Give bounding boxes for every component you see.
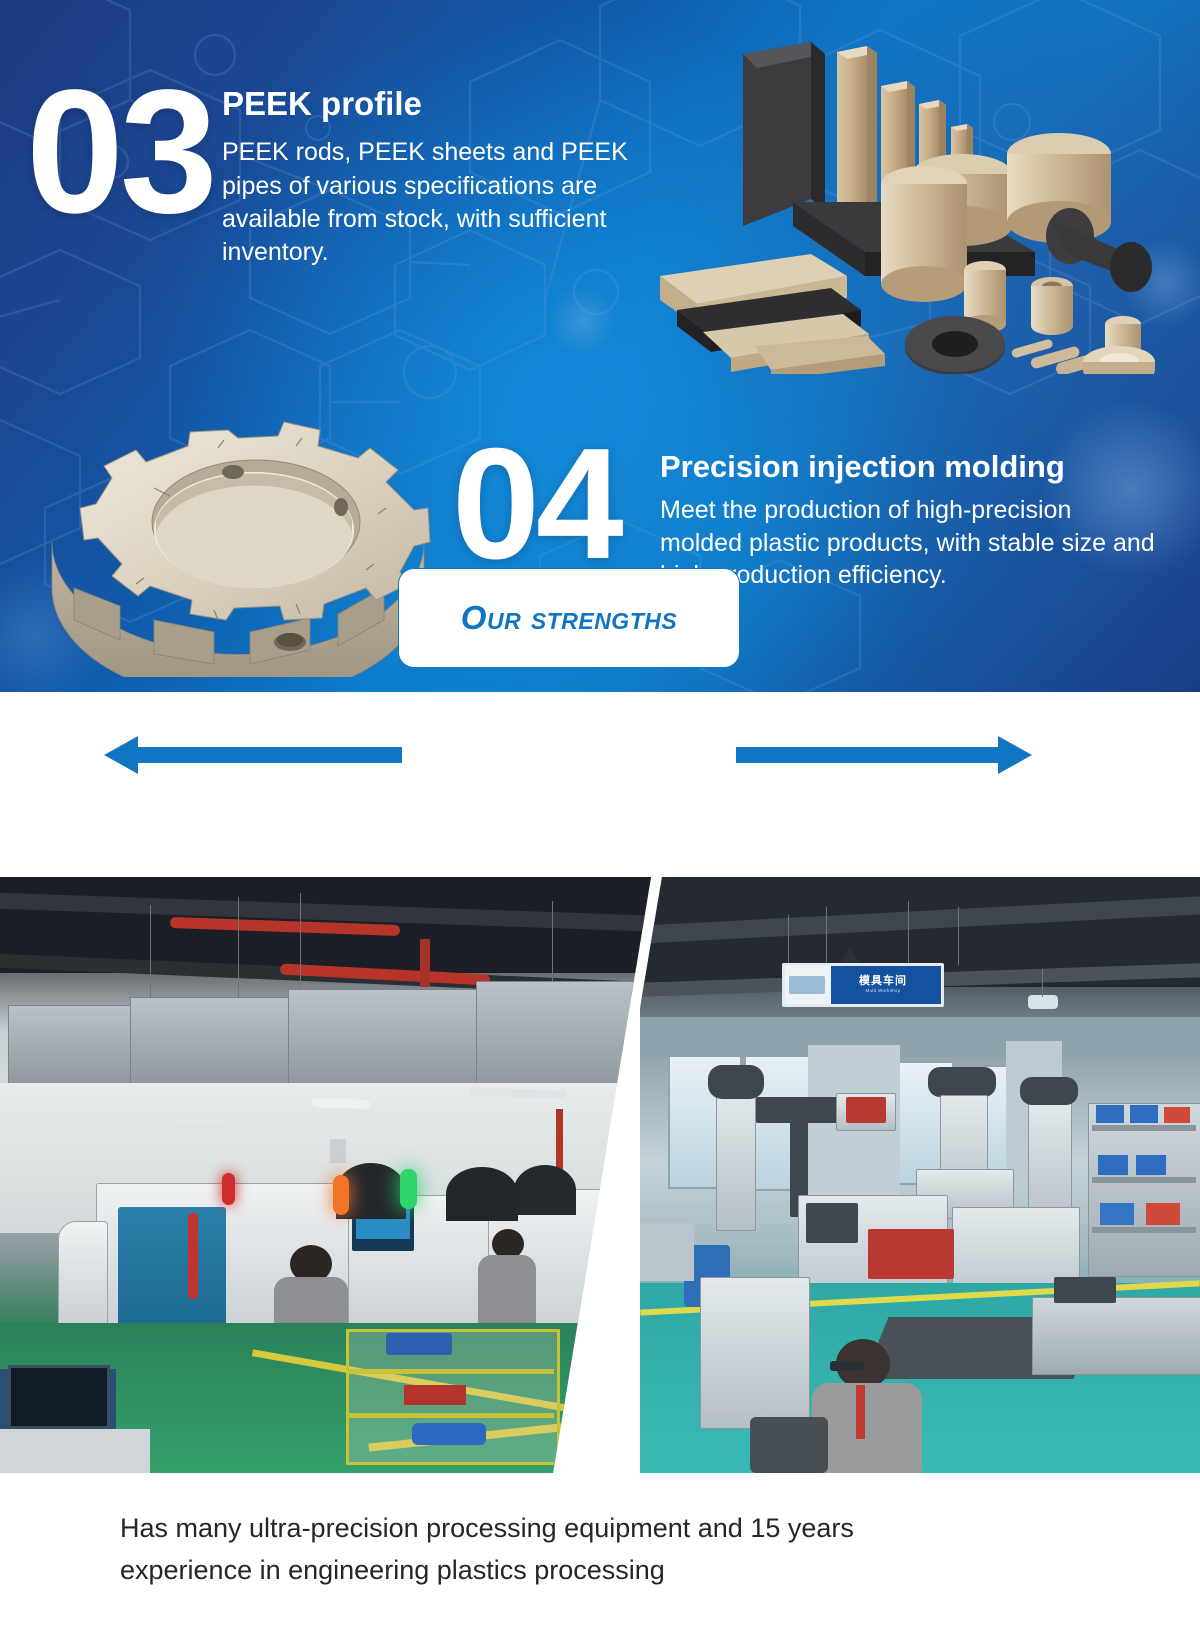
caption-line-1: Has many ultra-precision processing equi…	[120, 1508, 854, 1550]
block-number-03: 03	[26, 72, 222, 234]
peek-profile-products-photo	[615, 14, 1195, 374]
mold-workshop-sign: 模具车间 Mold Workshop	[782, 963, 944, 1007]
cnc-machining-workshop-photo	[0, 877, 700, 1473]
block-number-04: 04	[452, 432, 660, 577]
left-arrow	[104, 736, 402, 774]
caption-block: Has many ultra-precision processing equi…	[0, 1478, 1200, 1638]
right-arrow	[736, 736, 1032, 774]
workshop-photos: 模具车间 Mold Workshop	[0, 877, 1200, 1473]
promo-page: 03 PEEK profile PEEK rods, PEEK sheets a…	[0, 0, 1200, 1638]
block-body-03: PEEK rods, PEEK sheets and PEEK pipes of…	[222, 136, 652, 269]
strengths-title-box: Our strengths	[398, 568, 740, 668]
block-title-04: Precision injection molding	[660, 450, 1160, 484]
sign-text-en: Mold Workshop	[859, 989, 907, 994]
mold-workshop-photo: 模具车间 Mold Workshop	[640, 877, 1200, 1473]
strengths-title: Our strengths	[461, 599, 677, 637]
hero-block-03: 03 PEEK profile PEEK rods, PEEK sheets a…	[26, 72, 652, 269]
block-title-03: PEEK profile	[222, 86, 652, 122]
caption-line-2: experience in engineering plastics proce…	[120, 1550, 665, 1592]
peek-gear-ring-photo	[28, 392, 448, 677]
strengths-banner: Our strengths	[0, 692, 1200, 878]
decor-blob	[548, 286, 618, 356]
strengths-arrow-line	[0, 692, 1200, 878]
sign-text-zh: 模具车间	[859, 976, 907, 987]
